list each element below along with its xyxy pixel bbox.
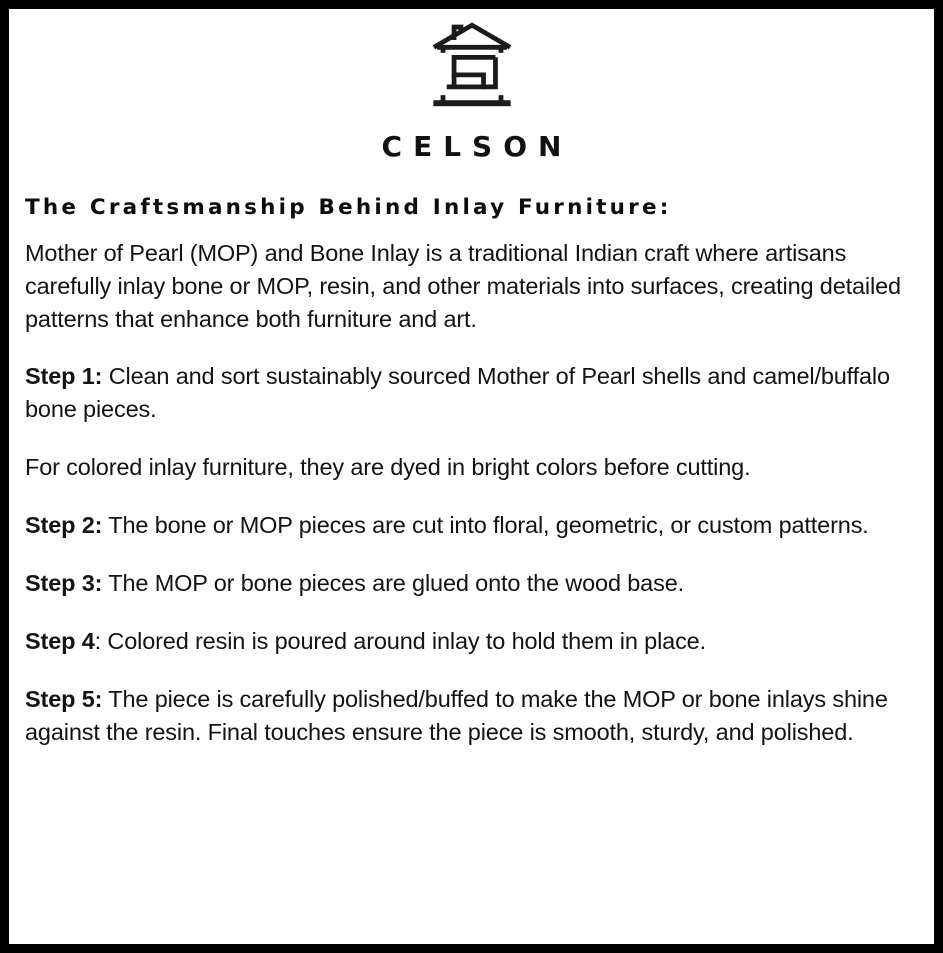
paragraph-text: : Colored resin is poured around inlay t… — [95, 628, 706, 654]
paragraph-text: Mother of Pearl (MOP) and Bone Inlay is … — [25, 240, 901, 332]
paragraph-step-2: Step 2: The bone or MOP pieces are cut i… — [25, 509, 915, 542]
paragraph-text: The piece is carefully polished/buffed t… — [25, 686, 888, 745]
paragraph-text: Clean and sort sustainably sourced Mothe… — [25, 363, 890, 422]
house-monogram-icon — [426, 19, 518, 117]
paragraph-text: The MOP or bone pieces are glued onto th… — [102, 570, 684, 596]
paragraph-lead: Step 4 — [25, 628, 95, 654]
brand-block: CELSON — [17, 15, 926, 161]
paragraph-intro: Mother of Pearl (MOP) and Bone Inlay is … — [25, 237, 915, 336]
paragraph-text: The bone or MOP pieces are cut into flor… — [102, 512, 868, 538]
paragraph-step-3: Step 3: The MOP or bone pieces are glued… — [25, 567, 915, 600]
brand-name: CELSON — [17, 133, 926, 161]
paragraph-text: For colored inlay furniture, they are dy… — [25, 454, 750, 480]
paragraph-colored-inlay: For colored inlay furniture, they are dy… — [25, 451, 915, 484]
article-body: Mother of Pearl (MOP) and Bone Inlay is … — [25, 221, 915, 749]
poster-content: CELSON The Craftsmanship Behind Inlay Fu… — [9, 9, 934, 944]
paragraph-step-5: Step 5: The piece is carefully polished/… — [25, 683, 915, 749]
paragraph-lead: Step 2: — [25, 512, 102, 538]
paragraph-lead: Step 5: — [25, 686, 102, 712]
paragraph-step-1: Step 1: Clean and sort sustainably sourc… — [25, 360, 915, 426]
logo-base-bar — [433, 100, 510, 106]
page-title: The Craftsmanship Behind Inlay Furniture… — [25, 195, 926, 221]
paragraph-step-4: Step 4: Colored resin is poured around i… — [25, 625, 915, 658]
poster-card: CELSON The Craftsmanship Behind Inlay Fu… — [0, 0, 943, 953]
paragraph-lead: Step 1: — [25, 363, 102, 389]
paragraph-lead: Step 3: — [25, 570, 102, 596]
